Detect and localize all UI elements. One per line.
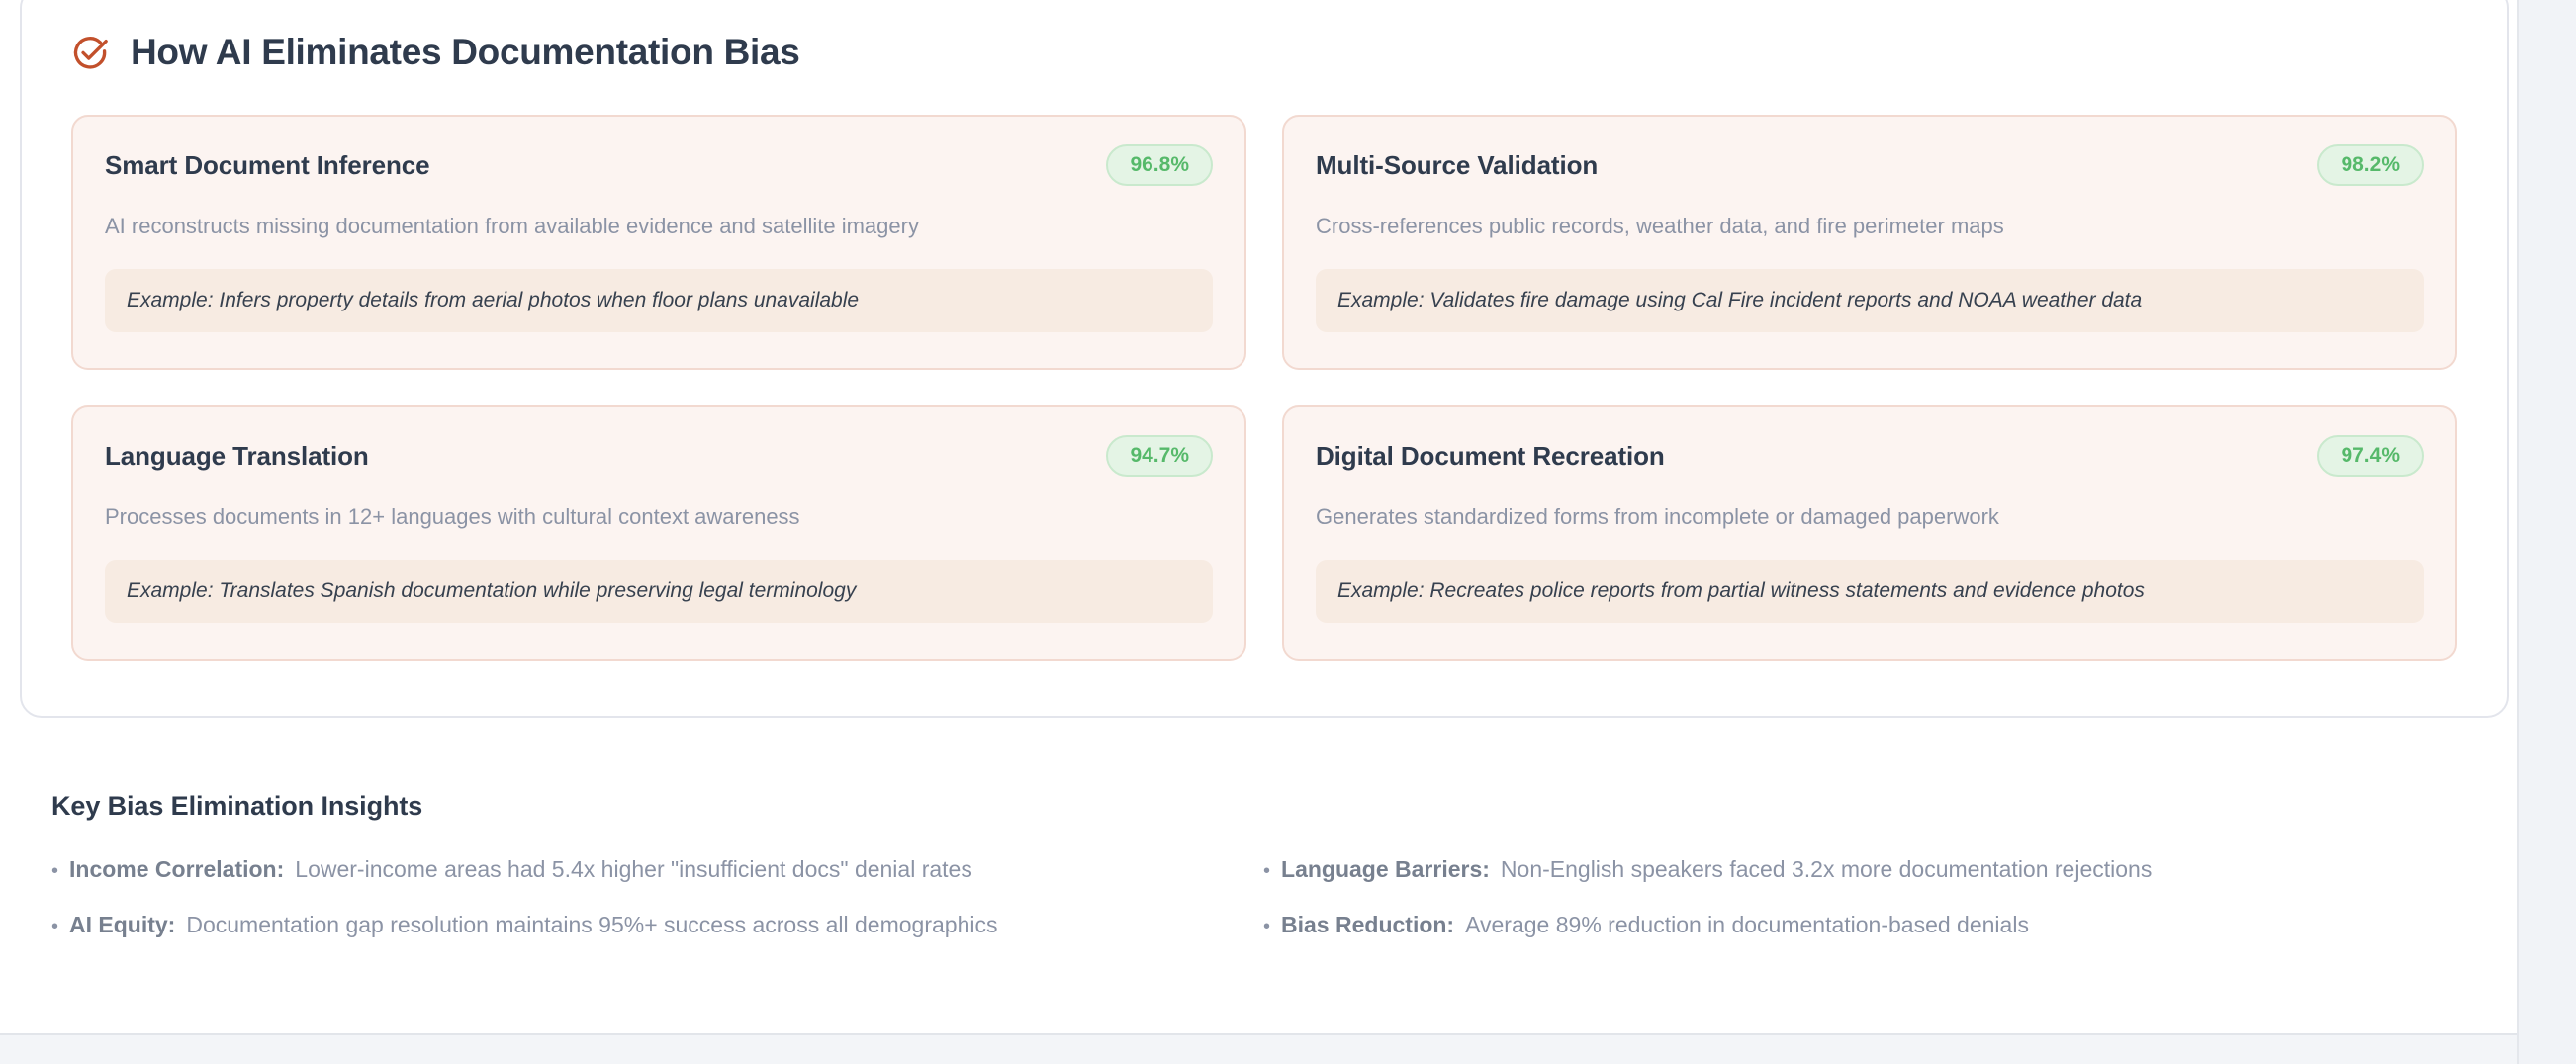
feature-card-description: Cross-references public records, weather… — [1316, 212, 2424, 241]
insight-label: AI Equity: — [69, 911, 175, 940]
insight-text: Non-English speakers faced 3.2x more doc… — [1501, 855, 2152, 885]
bullet-icon: • — [1263, 861, 1270, 881]
insight-item: • Language Barriers: Non-English speaker… — [1263, 855, 2475, 885]
bullet-icon: • — [51, 861, 58, 881]
feature-card-example-text: Example: Validates fire damage using Cal… — [1337, 287, 2402, 313]
insight-label: Income Correlation: — [69, 855, 284, 885]
feature-card-example-text: Example: Translates Spanish documentatio… — [127, 577, 1191, 604]
circle-check-icon — [71, 35, 109, 72]
score-badge: 98.2% — [2317, 144, 2424, 186]
insight-item: • Bias Reduction: Average 89% reduction … — [1263, 911, 2475, 940]
insight-item: • AI Equity: Documentation gap resolutio… — [51, 911, 1263, 940]
page-title: How AI Eliminates Documentation Bias — [131, 32, 800, 73]
feature-card[interactable]: Digital Document Recreation 97.4% Genera… — [1282, 405, 2457, 661]
insights-section: Key Bias Elimination Insights • Income C… — [51, 791, 2475, 940]
feature-card-description: AI reconstructs missing documentation fr… — [105, 212, 1213, 241]
score-badge: 96.8% — [1106, 144, 1213, 186]
insight-label: Bias Reduction: — [1281, 911, 1454, 940]
bottom-strip — [0, 1035, 2517, 1064]
score-badge: 94.7% — [1106, 435, 1213, 477]
feature-card-title: Digital Document Recreation — [1316, 441, 1665, 472]
feature-card-example-box: Example: Infers property details from ae… — [105, 269, 1213, 332]
feature-card-example-box: Example: Translates Spanish documentatio… — [105, 560, 1213, 623]
feature-card-title: Language Translation — [105, 441, 369, 472]
feature-card-description: Generates standardized forms from incomp… — [1316, 502, 2424, 532]
insight-text: Documentation gap resolution maintains 9… — [186, 911, 997, 940]
insight-item: • Income Correlation: Lower-income areas… — [51, 855, 1263, 885]
feature-card-header: Language Translation 94.7% — [105, 435, 1213, 477]
feature-card-header: Multi-Source Validation 98.2% — [1316, 144, 2424, 186]
feature-card-example-text: Example: Recreates police reports from p… — [1337, 577, 2402, 604]
bullet-icon: • — [51, 917, 58, 936]
feature-card-header: Digital Document Recreation 97.4% — [1316, 435, 2424, 477]
insights-grid: • Income Correlation: Lower-income areas… — [51, 855, 2475, 940]
feature-card-example-text: Example: Infers property details from ae… — [127, 287, 1191, 313]
score-badge: 97.4% — [2317, 435, 2424, 477]
feature-card-example-box: Example: Validates fire damage using Cal… — [1316, 269, 2424, 332]
feature-card[interactable]: Multi-Source Validation 98.2% Cross-refe… — [1282, 115, 2457, 370]
feature-card-grid: Smart Document Inference 96.8% AI recons… — [22, 73, 2507, 661]
feature-card-title: Multi-Source Validation — [1316, 150, 1598, 181]
page-root: How AI Eliminates Documentation Bias Sma… — [0, 0, 2576, 1064]
feature-card-example-box: Example: Recreates police reports from p… — [1316, 560, 2424, 623]
panel-header: How AI Eliminates Documentation Bias — [22, 0, 2507, 73]
feature-card-title: Smart Document Inference — [105, 150, 429, 181]
right-gutter — [2517, 0, 2576, 1064]
feature-card-description: Processes documents in 12+ languages wit… — [105, 502, 1213, 532]
feature-card[interactable]: Smart Document Inference 96.8% AI recons… — [71, 115, 1246, 370]
insights-title: Key Bias Elimination Insights — [51, 791, 2475, 822]
insight-text: Lower-income areas had 5.4x higher "insu… — [295, 855, 972, 885]
feature-card[interactable]: Language Translation 94.7% Processes doc… — [71, 405, 1246, 661]
insight-text: Average 89% reduction in documentation-b… — [1465, 911, 2029, 940]
documentation-bias-panel: How AI Eliminates Documentation Bias Sma… — [20, 0, 2509, 718]
insight-label: Language Barriers: — [1281, 855, 1490, 885]
feature-card-header: Smart Document Inference 96.8% — [105, 144, 1213, 186]
bullet-icon: • — [1263, 917, 1270, 936]
